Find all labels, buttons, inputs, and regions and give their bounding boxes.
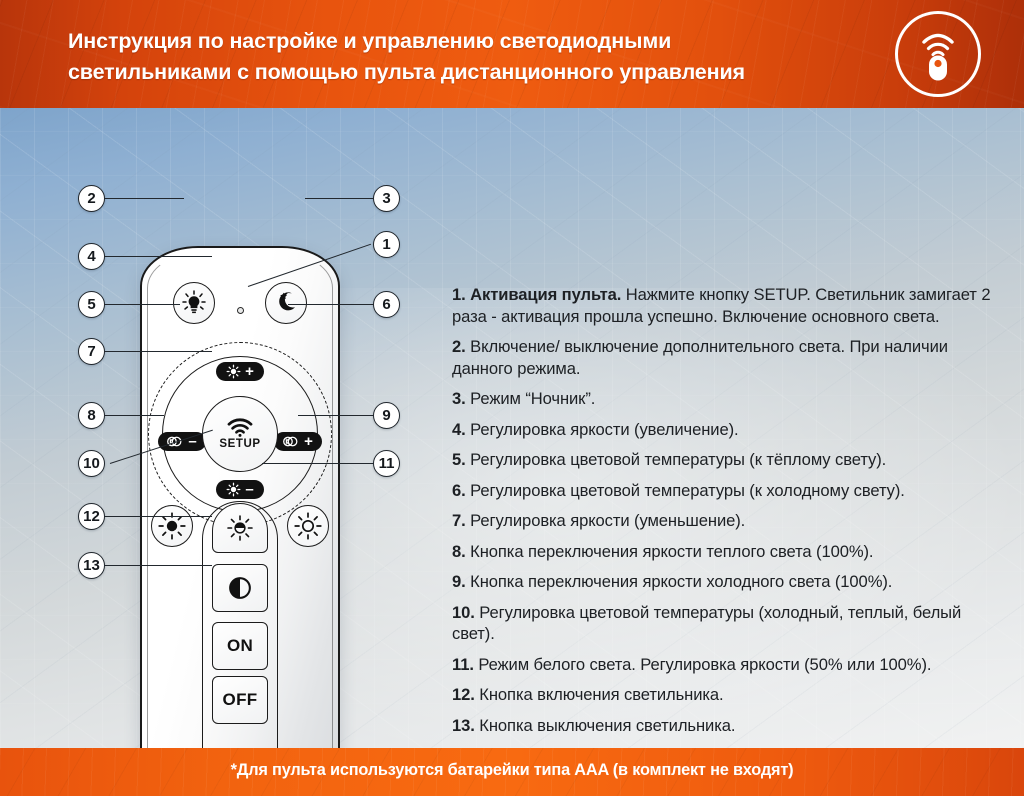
- header-banner: Инструкция по настройке и управлению све…: [0, 0, 1024, 108]
- callout-11[interactable]: 11: [373, 450, 400, 477]
- battery-note: *Для пульта используются батарейки типа …: [20, 760, 1003, 780]
- leader-line-12: [102, 516, 212, 517]
- instruction-poster: Инструкция по настройке и управлению све…: [0, 0, 1024, 796]
- leader-line-4: [102, 256, 212, 257]
- button-cool-full[interactable]: [287, 505, 329, 547]
- instruction-item-4: 4. Регулировка яркости (увеличение).: [452, 419, 1008, 441]
- instruction-num-5: 5.: [452, 450, 466, 469]
- instruction-item-8: 8. Кнопка переключения яркости теплого с…: [452, 541, 1008, 563]
- instruction-item-10: 10. Регулировка цветовой температуры (хо…: [452, 602, 1008, 645]
- callout-1[interactable]: 1: [373, 231, 400, 258]
- button-power-on-label: ON: [227, 636, 253, 656]
- sun-icon: [226, 364, 241, 379]
- instruction-item-6: 6. Регулировка цветовой температуры (к х…: [452, 480, 1008, 502]
- page-title-line-2: светильниками с помощью пульта дистанцио…: [68, 57, 858, 88]
- instruction-item-2: 2. Включение/ выключение дополнительного…: [452, 336, 1008, 379]
- instruction-text-6: Регулировка цветовой температуры (к холо…: [470, 481, 905, 500]
- wifi-icon: [227, 418, 253, 437]
- footer-banner: *Для пульта используются батарейки типа …: [0, 748, 1024, 796]
- instruction-bold-1: Активация пульта.: [470, 285, 621, 304]
- remote-control: + – +: [140, 246, 340, 748]
- callout-12[interactable]: 12: [78, 503, 105, 530]
- leader-line-11: [262, 463, 374, 464]
- led-indicator: [237, 307, 244, 314]
- instruction-num-2: 2.: [452, 337, 466, 356]
- moon-star-icon: [271, 288, 301, 318]
- callout-13[interactable]: 13: [78, 552, 105, 579]
- leader-line-3: [305, 198, 373, 199]
- callout-5[interactable]: 5: [78, 291, 105, 318]
- button-white-mode[interactable]: [212, 564, 268, 612]
- instruction-list: 1. Активация пульта. Нажмите кнопку SETU…: [452, 284, 1008, 745]
- callout-6[interactable]: 6: [373, 291, 400, 318]
- page-title-line-1: Инструкция по настройке и управлению све…: [68, 26, 858, 57]
- instruction-num-10: 10.: [452, 603, 475, 622]
- instruction-item-12: 12. Кнопка включения светильника.: [452, 684, 1008, 706]
- instruction-num-7: 7.: [452, 511, 466, 530]
- instruction-num-6: 6.: [452, 481, 466, 500]
- leader-line-5: [102, 304, 180, 305]
- sun-filled-icon: [156, 510, 188, 542]
- leader-line-13: [102, 565, 212, 566]
- instruction-item-1: 1. Активация пульта. Нажмите кнопку SETU…: [452, 284, 1008, 327]
- instruction-text-7: Регулировка яркости (уменьшение).: [470, 511, 745, 530]
- instruction-text-8: Кнопка переключения яркости теплого свет…: [470, 542, 873, 561]
- leader-line-6: [288, 304, 374, 305]
- instruction-item-13: 13. Кнопка выключения светильника.: [452, 715, 1008, 737]
- callout-3[interactable]: 3: [373, 185, 400, 212]
- instruction-text-13: Кнопка выключения светильника.: [479, 716, 735, 735]
- callout-9[interactable]: 9: [373, 402, 400, 429]
- sun-hollow-icon: [292, 510, 324, 542]
- plus-icon: +: [245, 364, 254, 379]
- instruction-text-4: Регулировка яркости (увеличение).: [470, 420, 738, 439]
- instruction-text-5: Регулировка цветовой температуры (к тёпл…: [470, 450, 886, 469]
- button-cct-cool[interactable]: +: [274, 432, 322, 451]
- minus-icon: –: [245, 482, 253, 497]
- instruction-num-1: 1.: [452, 285, 466, 304]
- instruction-item-7: 7. Регулировка яркости (уменьшение).: [452, 510, 1008, 532]
- instruction-item-5: 5. Регулировка цветовой температуры (к т…: [452, 449, 1008, 471]
- instruction-text-9: Кнопка переключения яркости холодного св…: [470, 572, 892, 591]
- callout-7[interactable]: 7: [78, 338, 105, 365]
- setup-label: SETUP: [219, 438, 260, 450]
- leader-line-2: [102, 198, 184, 199]
- callout-8[interactable]: 8: [78, 402, 105, 429]
- instruction-num-12: 12.: [452, 685, 475, 704]
- instruction-num-13: 13.: [452, 716, 475, 735]
- content-area: 2 4 5 7 8 10 12 13 3 1 6 9 11: [0, 108, 1024, 748]
- button-power-off[interactable]: OFF: [212, 676, 268, 724]
- cct-icon: [283, 435, 300, 448]
- instruction-text-11: Режим белого света. Регулировка яркости …: [478, 655, 931, 674]
- instruction-text-3: Режим “Ночник”.: [470, 389, 595, 408]
- button-cct-cycle[interactable]: [212, 503, 268, 553]
- button-brightness-down[interactable]: –: [216, 480, 264, 499]
- contrast-half-circle-icon: [225, 573, 255, 603]
- instruction-item-11: 11. Режим белого света. Регулировка ярко…: [452, 654, 1008, 676]
- remote-signal-icon: [895, 11, 981, 97]
- instruction-num-4: 4.: [452, 420, 466, 439]
- button-warm-full[interactable]: [151, 505, 193, 547]
- instruction-item-9: 9. Кнопка переключения яркости холодного…: [452, 571, 1008, 593]
- leader-line-9: [298, 415, 374, 416]
- button-power-on[interactable]: ON: [212, 622, 268, 670]
- instruction-item-3: 3. Режим “Ночник”.: [452, 388, 1008, 410]
- callout-10[interactable]: 10: [78, 450, 105, 477]
- instruction-num-9: 9.: [452, 572, 466, 591]
- leader-line-8: [102, 415, 164, 416]
- callout-4[interactable]: 4: [78, 243, 105, 270]
- leader-line-7: [102, 351, 212, 352]
- button-night-mode[interactable]: [265, 282, 307, 324]
- page-title: Инструкция по настройке и управлению све…: [68, 26, 858, 88]
- lightbulb-rays-icon: [179, 288, 209, 318]
- instruction-text-12: Кнопка включения светильника.: [479, 685, 723, 704]
- button-additional-light[interactable]: [173, 282, 215, 324]
- instruction-text-2: Включение/ выключение дополнительного св…: [452, 337, 948, 378]
- callout-2[interactable]: 2: [78, 185, 105, 212]
- button-brightness-up[interactable]: +: [216, 362, 264, 381]
- instruction-num-8: 8.: [452, 542, 466, 561]
- plus-icon: +: [304, 434, 313, 449]
- button-power-off-label: OFF: [223, 690, 258, 710]
- instruction-num-11: 11.: [452, 655, 474, 674]
- instruction-text-10: Регулировка цветовой температуры (холодн…: [452, 603, 961, 644]
- instruction-num-3: 3.: [452, 389, 466, 408]
- setup-button[interactable]: SETUP: [202, 396, 278, 472]
- sun-half-icon: [225, 513, 255, 543]
- sun-icon: [226, 482, 241, 497]
